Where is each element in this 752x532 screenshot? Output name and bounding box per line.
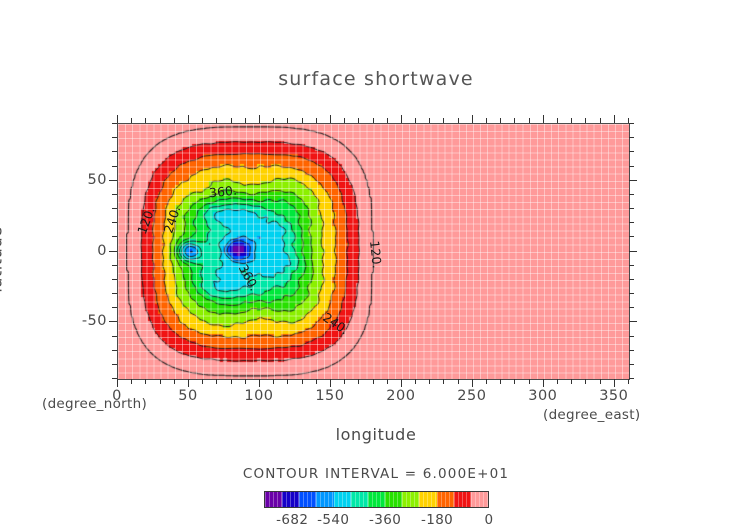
y-tick <box>112 293 117 294</box>
x-tick-top <box>472 115 473 123</box>
y-tick-right <box>629 350 634 351</box>
x-tick <box>614 379 615 387</box>
y-tick <box>112 236 117 237</box>
x-tick <box>302 379 303 384</box>
x-tick <box>344 379 345 384</box>
x-tick <box>514 379 515 384</box>
x-tick-label: 200 <box>386 388 415 404</box>
x-tick <box>571 379 572 384</box>
x-axis-title: longitude <box>0 425 752 444</box>
x-tick-top <box>259 115 260 123</box>
x-tick-top <box>429 118 430 123</box>
x-tick-top <box>600 118 601 123</box>
y-tick <box>112 378 117 379</box>
colorbar-label: 0 <box>485 512 494 528</box>
y-tick <box>112 364 117 365</box>
y-tick <box>112 151 117 152</box>
x-tick-top <box>529 118 530 123</box>
y-tick-right <box>629 236 634 237</box>
x-tick-top <box>302 118 303 123</box>
y-tick-right <box>629 137 634 138</box>
x-tick-top <box>557 118 558 123</box>
y-tick <box>112 123 117 124</box>
x-tick-top <box>415 118 416 123</box>
y-tick-right <box>629 222 634 223</box>
x-tick-top <box>614 115 615 123</box>
y-tick <box>112 350 117 351</box>
x-tick-top <box>585 118 586 123</box>
colorbar-cell-12 <box>471 492 488 507</box>
colorbar-cell-8 <box>402 492 419 507</box>
colorbar-cell-10 <box>437 492 454 507</box>
x-tick <box>273 379 274 384</box>
x-tick <box>387 379 388 384</box>
y-tick <box>112 166 117 167</box>
x-tick <box>245 379 246 384</box>
x-tick <box>628 379 629 384</box>
x-tick-label: 300 <box>528 388 557 404</box>
y-tick <box>109 251 117 252</box>
x-tick-top <box>273 118 274 123</box>
x-tick <box>585 379 586 384</box>
x-tick <box>429 379 430 384</box>
contour-label: 120. <box>367 240 385 269</box>
colorbar-cell-6 <box>368 492 385 507</box>
y-tick-right <box>629 307 634 308</box>
y-tick-right <box>629 321 637 322</box>
x-tick-top <box>174 118 175 123</box>
x-tick <box>500 379 501 384</box>
colorbar-cell-9 <box>419 492 436 507</box>
y-tick-right <box>629 336 634 337</box>
y-tick-right <box>629 151 634 152</box>
y-tick-right <box>629 166 634 167</box>
colorbar-cell-2 <box>299 492 316 507</box>
y-tick <box>109 321 117 322</box>
x-tick <box>401 379 402 387</box>
colorbar-cell-1 <box>282 492 299 507</box>
y-tick <box>112 137 117 138</box>
colorbar-label: -360 <box>369 512 401 528</box>
y-tick-right <box>629 265 634 266</box>
x-tick-top <box>514 118 515 123</box>
x-tick-top <box>231 118 232 123</box>
colorbar-label: -682 <box>276 512 308 528</box>
y-tick <box>112 208 117 209</box>
y-axis-units: (degree_north) <box>42 396 147 412</box>
y-tick-right <box>629 364 634 365</box>
y-tick-right <box>629 251 637 252</box>
x-tick-label: 100 <box>244 388 273 404</box>
x-tick-top <box>373 118 374 123</box>
x-tick <box>543 379 544 387</box>
x-tick <box>358 379 359 384</box>
page-title: surface shortwave <box>0 68 752 90</box>
y-tick-label: -50 <box>59 313 107 329</box>
y-tick-right <box>629 208 634 209</box>
x-tick <box>160 379 161 384</box>
x-tick <box>600 379 601 384</box>
x-tick <box>443 379 444 384</box>
x-tick-label: 350 <box>599 388 628 404</box>
colorbar-cell-4 <box>334 492 351 507</box>
y-tick <box>112 336 117 337</box>
y-tick-label: 50 <box>59 172 107 188</box>
x-tick <box>117 379 118 387</box>
x-tick <box>287 379 288 384</box>
y-tick-right <box>629 279 634 280</box>
x-tick <box>330 379 331 387</box>
x-tick <box>259 379 260 387</box>
x-tick <box>188 379 189 387</box>
x-tick-label: 50 <box>178 388 197 404</box>
colorbar-cell-0 <box>265 492 282 507</box>
x-tick-top <box>571 118 572 123</box>
x-tick <box>486 379 487 384</box>
y-tick <box>112 307 117 308</box>
x-tick-label: 150 <box>315 388 344 404</box>
x-tick <box>216 379 217 384</box>
y-tick-right <box>629 293 634 294</box>
x-tick-top <box>245 118 246 123</box>
x-tick-top <box>316 118 317 123</box>
x-tick <box>458 379 459 384</box>
x-tick-top <box>344 118 345 123</box>
contour-label: 360. <box>208 183 237 201</box>
x-tick-top <box>131 118 132 123</box>
x-tick <box>472 379 473 387</box>
colorbar-cell-5 <box>351 492 368 507</box>
y-tick <box>112 279 117 280</box>
x-tick-top <box>145 118 146 123</box>
y-tick <box>112 265 117 266</box>
x-tick <box>131 379 132 384</box>
x-tick <box>557 379 558 384</box>
y-tick <box>112 194 117 195</box>
x-tick <box>316 379 317 384</box>
y-tick <box>109 180 117 181</box>
x-tick-top <box>486 118 487 123</box>
x-tick <box>174 379 175 384</box>
x-tick <box>373 379 374 384</box>
colorbar-cell-11 <box>454 492 471 507</box>
y-tick-right <box>629 378 634 379</box>
x-tick-top <box>500 118 501 123</box>
x-tick-top <box>358 118 359 123</box>
x-tick-top <box>458 118 459 123</box>
x-tick-top <box>443 118 444 123</box>
x-tick-top <box>387 118 388 123</box>
colorbar-swatches <box>264 491 489 508</box>
contour-interval-caption: CONTOUR INTERVAL = 6.000E+01 <box>0 466 752 482</box>
x-tick <box>415 379 416 384</box>
x-tick-label: 250 <box>457 388 486 404</box>
x-tick-top <box>216 118 217 123</box>
colorbar-cell-7 <box>385 492 402 507</box>
y-tick-right <box>629 123 634 124</box>
y-tick <box>112 222 117 223</box>
x-tick-top <box>188 115 189 123</box>
colorbar-label: -180 <box>421 512 453 528</box>
y-tick-label: 0 <box>59 243 107 259</box>
x-tick-top <box>117 115 118 123</box>
colorbar-cell-3 <box>316 492 333 507</box>
colorbar-label: -540 <box>317 512 349 528</box>
x-axis-units: (degree_east) <box>543 407 640 423</box>
x-tick-top <box>287 118 288 123</box>
colorbar: -682-540-360-1800 <box>264 491 489 508</box>
x-tick-top <box>330 115 331 123</box>
y-tick-right <box>629 194 634 195</box>
x-tick <box>202 379 203 384</box>
y-axis-title: latitude <box>0 226 6 292</box>
y-tick-right <box>629 180 637 181</box>
x-tick-top <box>543 115 544 123</box>
x-tick <box>145 379 146 384</box>
x-tick <box>231 379 232 384</box>
x-tick-top <box>202 118 203 123</box>
x-tick-top <box>160 118 161 123</box>
x-tick-top <box>401 115 402 123</box>
x-tick <box>529 379 530 384</box>
